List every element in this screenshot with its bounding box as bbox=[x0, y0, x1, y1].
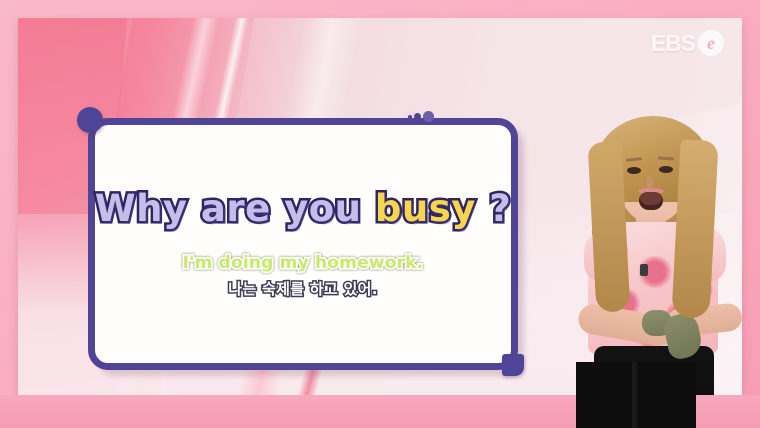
presenter-eye-right bbox=[659, 166, 673, 173]
video-frame: EBS e bbox=[0, 0, 760, 428]
card-content: Why are you busy ? I'm doing my homework… bbox=[88, 118, 518, 370]
stage-area: EBS e bbox=[18, 18, 742, 395]
headline-part-3: ? bbox=[476, 187, 511, 230]
answer-english: I'm doing my homework. bbox=[183, 253, 424, 273]
lesson-headline: Why are you busy ? bbox=[95, 190, 511, 227]
presenter-legs-seam bbox=[632, 362, 637, 428]
presenter-eye-left bbox=[627, 167, 641, 174]
headline-part-2: busy bbox=[375, 187, 476, 230]
ebs-logo: EBS e bbox=[651, 30, 724, 56]
answer-korean: 나는 숙제를 하고 있어. bbox=[228, 280, 377, 298]
lesson-card: Why are you busy ? I'm doing my homework… bbox=[88, 118, 518, 370]
lapel-microphone-icon bbox=[640, 264, 648, 276]
presenter-legs-overlay bbox=[576, 362, 696, 428]
presenter-mouth bbox=[639, 192, 663, 210]
bottom-frame-strip bbox=[0, 395, 760, 428]
presenter-nose bbox=[646, 176, 653, 188]
headline-part-1: Why are you bbox=[95, 187, 375, 230]
ebs-logo-text: EBS bbox=[651, 32, 695, 55]
presenter-figure bbox=[558, 114, 742, 395]
ebs-e-icon: e bbox=[698, 30, 724, 56]
